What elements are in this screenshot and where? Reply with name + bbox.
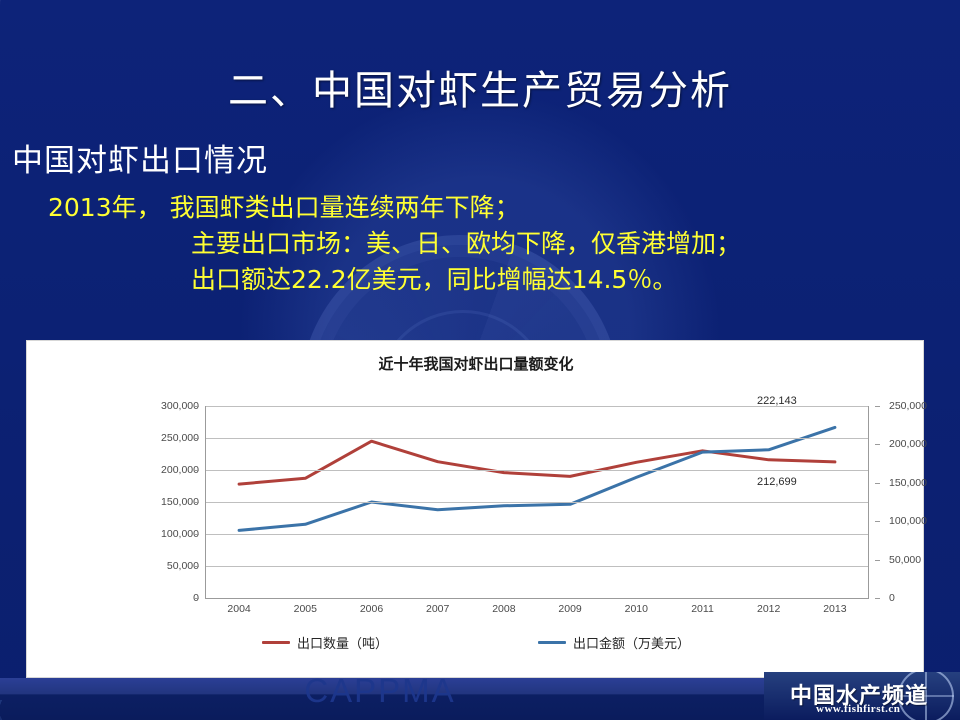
y-tick-mark-right bbox=[875, 521, 880, 522]
chart-panel: 近十年我国对虾出口量额变化 050,000100,000150,000200,0… bbox=[26, 340, 924, 678]
bullet-line-1: 2013年， 我国虾类出口量连续两年下降； bbox=[48, 190, 928, 226]
page-title: 二、中国对虾生产贸易分析 bbox=[0, 58, 960, 116]
bullet-list: 2013年， 我国虾类出口量连续两年下降； 主要出口市场：美、日、欧均下降，仅香… bbox=[48, 190, 928, 298]
x-tick-label: 2007 bbox=[426, 603, 449, 615]
cappma-watermark: CAPPMA bbox=[0, 672, 760, 710]
y-tick-mark-left bbox=[194, 470, 199, 471]
logo-url: www.fishfirst.cn bbox=[816, 703, 900, 715]
legend-swatch bbox=[538, 641, 566, 644]
legend-item[interactable]: 出口数量（吨） bbox=[262, 633, 388, 652]
gridline bbox=[206, 566, 868, 567]
y-tick-mark-left bbox=[194, 534, 199, 535]
line-series bbox=[239, 441, 835, 484]
x-tick-label: 2013 bbox=[823, 603, 846, 615]
y-tick-mark-left bbox=[194, 438, 199, 439]
chart-title: 近十年我国对虾出口量额变化 bbox=[27, 353, 925, 374]
slide-canvas: 二、中国对虾生产贸易分析 中国对虾出口情况 2013年， 我国虾类出口量连续两年… bbox=[0, 0, 960, 720]
bullet-line-2: 主要出口市场：美、日、欧均下降，仅香港增加； bbox=[48, 226, 928, 262]
x-tick-label: 2010 bbox=[625, 603, 648, 615]
line-series bbox=[239, 427, 835, 530]
y-tick-label-right: 250,000 bbox=[889, 400, 927, 412]
y-tick-mark-left bbox=[194, 598, 199, 599]
legend-swatch bbox=[262, 641, 290, 644]
y-tick-mark-left bbox=[194, 566, 199, 567]
chart-legend: 出口数量（吨）出口金额（万美元） bbox=[27, 633, 925, 652]
y-tick-label-right: 50,000 bbox=[889, 554, 921, 566]
y-tick-mark-right bbox=[875, 444, 880, 445]
y-axis-left: 050,000100,000150,000200,000250,000300,0… bbox=[135, 406, 199, 598]
x-tick-label: 2011 bbox=[691, 603, 714, 615]
legend-item[interactable]: 出口金额（万美元） bbox=[538, 633, 690, 652]
fishfirst-logo: 中国水产频道 www.fishfirst.cn bbox=[764, 672, 960, 720]
y-tick-mark-right bbox=[875, 406, 880, 407]
gridline bbox=[206, 438, 868, 439]
y-tick-label-right: 100,000 bbox=[889, 515, 927, 527]
y-tick-mark-left bbox=[194, 502, 199, 503]
data-label: 212,699 bbox=[757, 476, 797, 488]
x-tick-label: 2005 bbox=[294, 603, 317, 615]
y-tick-mark-right bbox=[875, 483, 880, 484]
y-tick-mark-right bbox=[875, 598, 880, 599]
y-tick-label-right: 0 bbox=[889, 592, 895, 604]
legend-label: 出口数量（吨） bbox=[297, 633, 388, 652]
y-tick-label-right: 200,000 bbox=[889, 438, 927, 450]
gridline bbox=[206, 502, 868, 503]
y-tick-mark-left bbox=[194, 406, 199, 407]
x-tick-label: 2012 bbox=[757, 603, 780, 615]
x-tick-label: 2008 bbox=[492, 603, 515, 615]
x-axis: 2004200520062007200820092010201120122013 bbox=[205, 603, 869, 623]
section-subtitle: 中国对虾出口情况 bbox=[12, 135, 268, 180]
x-tick-label: 2004 bbox=[227, 603, 250, 615]
x-tick-label: 2006 bbox=[360, 603, 383, 615]
plot-area: 222,143212,699 bbox=[205, 406, 869, 599]
legend-label: 出口金额（万美元） bbox=[573, 633, 690, 652]
y-axis-right: 050,000100,000150,000200,000250,000 bbox=[875, 406, 945, 598]
x-tick-label: 2009 bbox=[558, 603, 581, 615]
data-label: 222,143 bbox=[757, 395, 797, 407]
bullet-line-3: 出口额达22.2亿美元，同比增幅达14.5％。 bbox=[48, 262, 928, 298]
y-tick-mark-right bbox=[875, 560, 880, 561]
y-tick-label-right: 150,000 bbox=[889, 477, 927, 489]
gridline bbox=[206, 470, 868, 471]
gridline bbox=[206, 534, 868, 535]
